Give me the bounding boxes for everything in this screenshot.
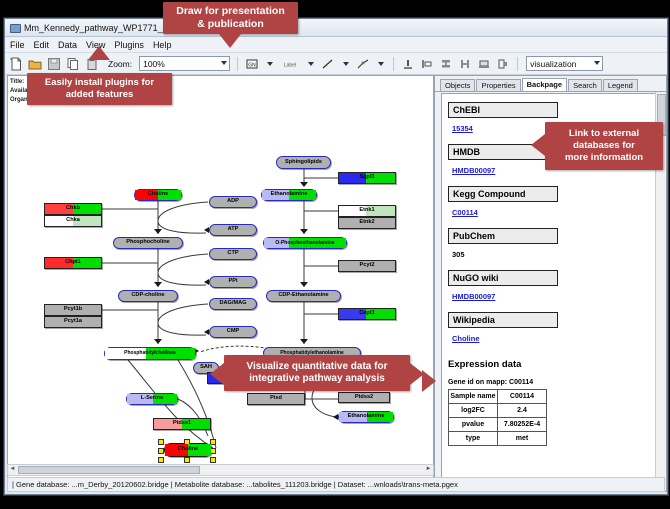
node-label: Choline <box>148 192 169 198</box>
node-label: Ptdss1 <box>173 421 191 427</box>
node-ptdss1[interactable]: Ptdss1 <box>153 418 211 430</box>
node-label: Sphingolipids <box>285 160 322 166</box>
table-row: type met <box>449 432 547 446</box>
callout-expression-pointer <box>422 370 436 392</box>
menu-item-help[interactable]: Help <box>153 40 172 50</box>
stack-icon[interactable] <box>439 57 453 71</box>
gene-id-on-mapp: Gene id on mapp: C00114 <box>448 379 644 386</box>
node-label: ATP <box>228 227 239 233</box>
node-ethanolamine-bottom[interactable]: Ethanolamine <box>338 411 394 423</box>
cell-value: C00114 <box>498 390 547 404</box>
db-header-pubchem: PubChem <box>448 228 558 244</box>
callout-visualize-data: Visualize quantitative data for integrat… <box>224 355 410 391</box>
node-o-phosphoethanolamine[interactable]: O-Phosphoethanolamine <box>263 237 347 249</box>
db-link-hmdb[interactable]: HMDB00097 <box>452 166 495 175</box>
scroll-left-icon[interactable]: ◄ <box>8 465 17 473</box>
cell-label: pvalue <box>449 418 498 432</box>
menu-item-plugins[interactable]: Plugins <box>114 40 144 50</box>
pathway-canvas[interactable]: Title: Availa Organi <box>7 75 434 492</box>
cell-value: met <box>498 432 547 446</box>
menu-item-edit[interactable]: Edit <box>34 40 50 50</box>
node-dag-mag[interactable]: DAG/MAG <box>209 298 257 310</box>
node-label: L-Serine <box>141 396 163 402</box>
label-tool-icon[interactable]: Label <box>280 57 300 71</box>
cell-label: Sample name <box>449 390 498 404</box>
node-label: Ethanolamine <box>271 192 308 198</box>
node-label: O-Phosphoethanolamine <box>275 241 334 246</box>
db-header-nugo-wiki: NuGO wiki <box>448 270 558 286</box>
node-label: Phosphocholine <box>126 240 170 246</box>
node-phosphocholine[interactable]: Phosphocholine <box>113 237 183 249</box>
group-icon[interactable] <box>477 57 491 71</box>
node-label: Pcyt1b <box>64 307 82 313</box>
table-row: pvalue 7.80252E-4 <box>449 418 547 432</box>
arrow-sphingolipids-to-ethanolamine <box>300 182 308 187</box>
node-label: Pisd <box>270 396 282 402</box>
cell-value: 7.80252E-4 <box>498 418 547 432</box>
node-label: Pcyt2 <box>360 263 375 269</box>
node-label: CDP-choline <box>131 293 164 299</box>
title-bar: Mm_Kennedy_pathway_WP1771_45176.gpml <box>5 19 667 37</box>
node-label: Chkb <box>66 206 80 212</box>
node-ptdss2[interactable]: Ptdss2 <box>338 392 390 403</box>
node-adp[interactable]: ADP <box>209 196 257 208</box>
tab-search[interactable]: Search <box>568 79 602 91</box>
table-row: log2FC 2.4 <box>449 404 547 418</box>
node-cept1[interactable]: Cept1 <box>338 308 396 320</box>
node-etnk1[interactable]: Etnk1 <box>338 205 396 217</box>
node-label: Ptdss2 <box>355 395 373 401</box>
node-label: Ethanolamine <box>348 414 385 420</box>
node-cmp[interactable]: CMP <box>209 326 257 338</box>
datanode-icon[interactable]: GN <box>245 57 259 71</box>
node-cdp-ethanolamine[interactable]: CDP-Ethanolamine <box>266 290 341 302</box>
node-ppi[interactable]: PPi <box>209 276 257 288</box>
node-sgpl1[interactable]: Sgpl1 <box>338 172 396 184</box>
node-label: ADP <box>227 199 239 205</box>
node-label: Pcyt1a <box>64 319 82 325</box>
label-dropdown-icon[interactable] <box>305 57 316 70</box>
svg-text:GN: GN <box>248 62 256 68</box>
toolbar-separator-3 <box>517 57 518 71</box>
callout-draw-for-publication: Draw for presentation & publication <box>163 2 298 34</box>
db-link-chebi[interactable]: 15354 <box>452 124 473 133</box>
node-label: Choline <box>178 447 199 453</box>
datanode-dropdown-icon[interactable] <box>264 57 275 70</box>
chevron-down-icon-2 <box>594 61 600 65</box>
zoom-label: Zoom: <box>108 59 132 69</box>
chevron-down-icon <box>221 61 227 65</box>
callout-visualize-pointer-left <box>210 363 224 385</box>
tab-legend[interactable]: Legend <box>603 79 638 91</box>
new-file-icon[interactable] <box>9 57 23 71</box>
node-cdp-choline[interactable]: CDP-choline <box>118 290 178 302</box>
cell-label: type <box>449 432 498 446</box>
node-ethanolamine-top[interactable]: Ethanolamine <box>261 189 317 201</box>
visualization-combo[interactable]: visualization <box>526 56 603 71</box>
node-atp[interactable]: ATP <box>209 224 257 236</box>
node-chka[interactable]: Chka <box>44 215 102 227</box>
order-icon[interactable] <box>496 57 510 71</box>
db-header-kegg-compound: Kegg Compound <box>448 186 558 202</box>
arrow-cdpcholine-to-ptdcholine <box>154 339 162 344</box>
node-choline-selected[interactable]: Choline <box>164 443 212 457</box>
node-l-serine-left[interactable]: L-Serine <box>126 393 178 405</box>
arrow-phosphocholine-to-cdpcholine <box>154 282 162 287</box>
node-label: CMP <box>227 329 239 335</box>
interaction-dropdown-icon[interactable] <box>375 57 386 70</box>
db-link-wikipedia[interactable]: Choline <box>452 334 480 343</box>
align-left-icon[interactable] <box>420 57 434 71</box>
menu-item-file[interactable]: File <box>10 40 25 50</box>
db-value-pubchem: 305 <box>452 250 465 259</box>
table-row: Sample name C00114 <box>449 390 547 404</box>
app-icon <box>9 22 20 33</box>
callout-link-pointer <box>531 134 545 156</box>
toolbar-separator-2 <box>393 57 394 71</box>
arrow-ethanolamine-to-phosphoethanolamine <box>300 229 308 234</box>
node-pcyt2[interactable]: Pcyt2 <box>338 260 396 272</box>
node-label: Cept1 <box>359 311 375 317</box>
node-chpt1[interactable]: Chpt1 <box>44 257 102 269</box>
expression-table: Sample name C00114 log2FC 2.4 pvalue 7.8… <box>448 389 547 446</box>
zoom-combo[interactable]: 100% <box>139 56 230 71</box>
tab-objects[interactable]: Objects <box>440 79 475 91</box>
node-label: Chka <box>66 218 80 224</box>
arrow-phosphoethanolamine-to-cdpethanolamine <box>300 282 308 287</box>
db-header-wikipedia: Wikipedia <box>448 312 558 328</box>
node-chkb[interactable]: Chkb <box>44 203 102 215</box>
line-icon[interactable] <box>321 57 335 71</box>
node-pcyt1b[interactable]: Pcyt1b <box>44 304 102 316</box>
status-bar-text: | Gene database: ...m_Derby_20120602.bri… <box>8 480 458 489</box>
distribute-icon[interactable] <box>458 57 472 71</box>
arrow-choline-to-phosphocholine <box>154 229 162 234</box>
expression-data-heading: Expression data <box>448 359 644 370</box>
node-label: Etnk2 <box>359 220 374 226</box>
save-icon[interactable] <box>47 57 61 71</box>
cell-value: 2.4 <box>498 404 547 418</box>
node-sphingolipids[interactable]: Sphingolipids <box>276 156 331 169</box>
app-root: Mm_Kennedy_pathway_WP1771_45176.gpml Fil… <box>0 0 670 509</box>
node-label: Etnk1 <box>359 208 374 214</box>
node-label: Phosphatidylcholines <box>124 351 176 356</box>
node-choline-top[interactable]: Choline <box>134 189 182 201</box>
interaction-icon[interactable] <box>356 57 370 71</box>
node-label: Sgpl1 <box>359 175 374 181</box>
line-dropdown-icon[interactable] <box>340 57 351 70</box>
callout-draw-pointer <box>219 34 241 48</box>
canvas-hscrollbar[interactable]: ◄ ► <box>7 464 434 476</box>
align-top-icon[interactable] <box>401 57 415 71</box>
callout-external-links: Link to external databases for more info… <box>545 122 663 170</box>
tab-backpage[interactable]: Backpage <box>522 78 567 91</box>
cell-label: log2FC <box>449 404 498 418</box>
label-text: Label <box>284 62 296 68</box>
node-phosphatidylcholines[interactable]: Phosphatidylcholines <box>104 347 196 360</box>
open-folder-icon[interactable] <box>28 57 42 71</box>
node-label: CTP <box>227 251 238 257</box>
node-ctp[interactable]: CTP <box>209 248 257 260</box>
scroll-right-icon[interactable]: ► <box>424 465 433 473</box>
callout-plugins-pointer <box>88 46 110 60</box>
toolbar-separator <box>237 57 238 71</box>
menu-item-data[interactable]: Data <box>58 40 77 50</box>
node-label: PPi <box>228 279 237 285</box>
copy-icon[interactable] <box>66 57 80 71</box>
db-link-kegg[interactable]: C00114 <box>452 208 478 217</box>
status-bar: | Gene database: ...m_Derby_20120602.bri… <box>7 477 665 492</box>
node-label: Chpt1 <box>65 260 81 266</box>
hscroll-thumb[interactable] <box>18 466 200 474</box>
node-pcyt1a[interactable]: Pcyt1a <box>44 316 102 328</box>
node-etnk2[interactable]: Etnk2 <box>338 217 396 229</box>
callout-install-plugins: Easily install plugins for added feature… <box>27 73 172 105</box>
node-label: DAG/MAG <box>219 301 246 307</box>
tab-properties[interactable]: Properties <box>476 79 520 91</box>
zoom-value: 100% <box>143 59 165 69</box>
arrow-cdpethanolamine-to-ptdethanolamine <box>300 339 308 344</box>
visualization-value: visualization <box>530 59 576 69</box>
db-link-nugo[interactable]: HMDB00097 <box>452 292 495 301</box>
db-header-chebi: ChEBI <box>448 102 558 118</box>
node-label: CDP-Ethanolamine <box>278 293 328 299</box>
side-panel-tabs: Objects Properties Backpage Search Legen… <box>435 76 666 92</box>
node-pisd[interactable]: Pisd <box>247 393 305 405</box>
